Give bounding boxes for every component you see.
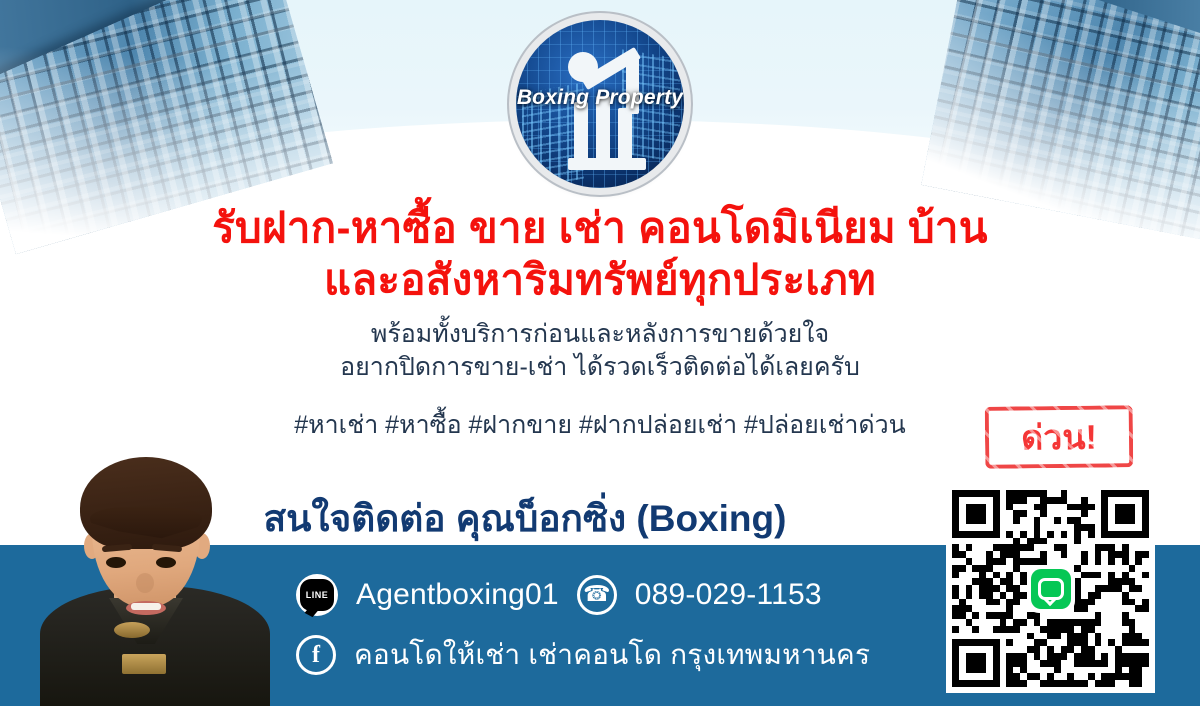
phone-icon[interactable]: ☎ bbox=[577, 575, 617, 615]
phone-number-text[interactable]: 089-029-1153 bbox=[635, 578, 822, 612]
line-icon[interactable]: LINE bbox=[296, 574, 338, 616]
agent-portrait bbox=[14, 415, 286, 706]
headline-line-2: และอสังหาริมทรัพย์ทุกประเภท bbox=[0, 254, 1200, 306]
headline-line-1: รับฝาก-หาซื้อ ขาย เช่า คอนโดมิเนียม บ้าน bbox=[0, 202, 1200, 254]
contact-row-line-phone: LINE Agentboxing01 ☎ 089-029-1153 bbox=[296, 574, 822, 616]
brand-logo: Boxing Property bbox=[516, 20, 684, 188]
portrait-eye bbox=[156, 557, 176, 568]
logo-text: Boxing Property bbox=[516, 86, 684, 110]
facebook-page-text[interactable]: คอนโดให้เช่า เช่าคอนโด กรุงเทพมหานคร bbox=[354, 633, 870, 677]
logo-base-icon bbox=[568, 158, 646, 170]
line-id-text[interactable]: Agentboxing01 bbox=[356, 578, 559, 612]
qr-line-badge-icon bbox=[1027, 565, 1075, 613]
contact-row-facebook: f คอนโดให้เช่า เช่าคอนโด กรุงเทพมหานคร bbox=[296, 633, 870, 677]
subtitle-line-1: พร้อมทั้งบริการก่อนและหลังการขายด้วยใจ bbox=[0, 318, 1200, 351]
line-icon-label: LINE bbox=[306, 590, 329, 600]
logo-column-icon bbox=[618, 108, 632, 164]
advertisement-poster: Boxing Property รับฝาก-หาซื้อ ขาย เช่า ค… bbox=[0, 0, 1200, 706]
logo-column-icon bbox=[574, 102, 588, 164]
subtitle: พร้อมทั้งบริการก่อนและหลังการขายด้วยใจ อ… bbox=[0, 318, 1200, 384]
portrait-pin bbox=[114, 622, 150, 638]
facebook-icon[interactable]: f bbox=[296, 635, 336, 675]
portrait-nose bbox=[136, 573, 154, 593]
urgent-stamp: ด่วน! bbox=[985, 405, 1134, 469]
line-qr-code[interactable] bbox=[946, 484, 1155, 693]
subtitle-line-2: อยากปิดการขาย-เช่า ได้รวดเร็วติดต่อได้เล… bbox=[0, 351, 1200, 384]
portrait-eye bbox=[106, 557, 126, 568]
portrait-teeth bbox=[131, 603, 161, 610]
page-title: รับฝาก-หาซื้อ ขาย เช่า คอนโดมิเนียม บ้าน… bbox=[0, 202, 1200, 306]
portrait-badge bbox=[122, 654, 166, 674]
phone-glyph: ☎ bbox=[583, 583, 610, 605]
facebook-glyph: f bbox=[312, 643, 320, 667]
